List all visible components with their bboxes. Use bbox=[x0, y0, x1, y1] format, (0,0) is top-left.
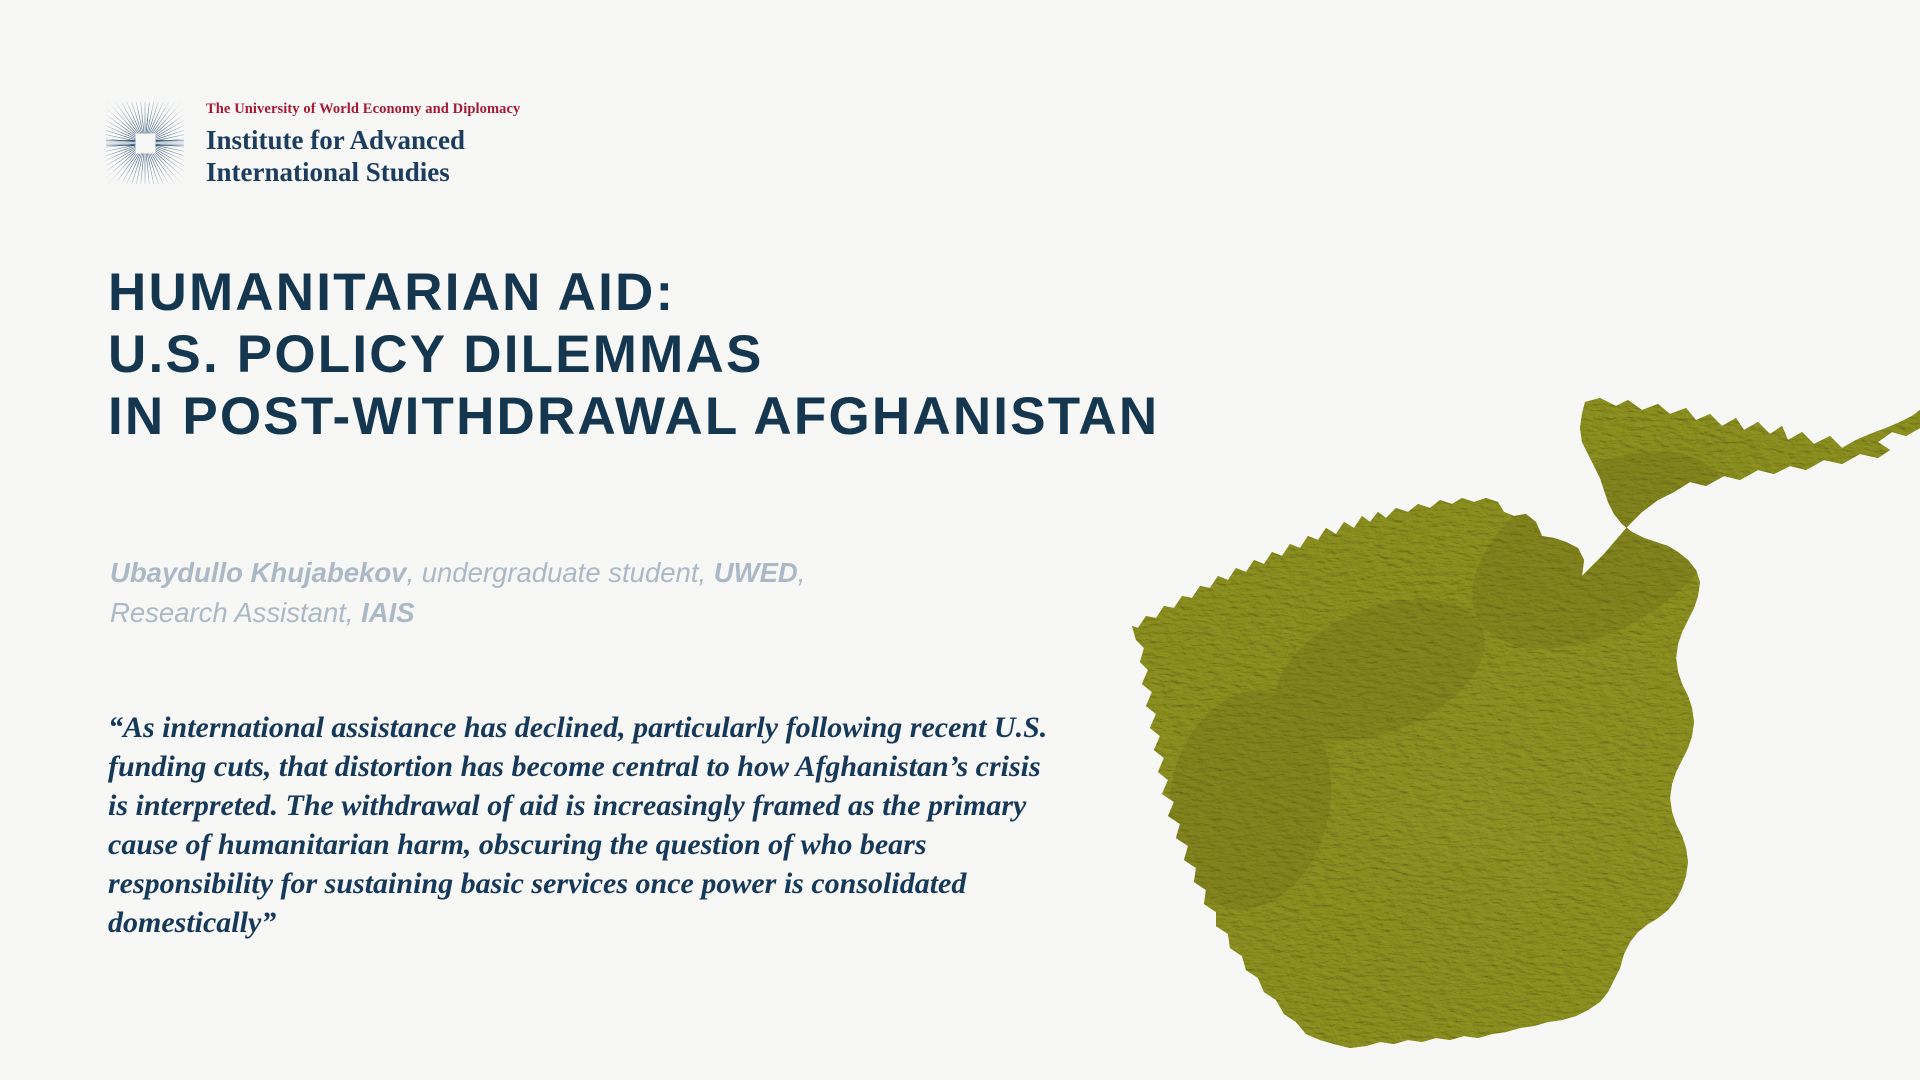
author-affiliation-1: UWED bbox=[714, 557, 798, 588]
logo-text-block: The University of World Economy and Dipl… bbox=[206, 98, 520, 189]
author-role-2: , bbox=[798, 557, 806, 588]
presentation-slide: The University of World Economy and Dipl… bbox=[0, 0, 1920, 1080]
logo-university-line: The University of World Economy and Dipl… bbox=[206, 102, 520, 118]
author-affiliation-2: IAIS bbox=[361, 597, 414, 628]
afghanistan-map-illustration bbox=[1130, 370, 1920, 1050]
logo-institute-line-1: Institute for Advanced bbox=[206, 125, 520, 157]
logo-institute-name: Institute for Advanced International Stu… bbox=[206, 125, 520, 189]
author-byline: Ubaydullo Khujabekov, undergraduate stud… bbox=[110, 553, 1110, 632]
afghanistan-terrain-shape bbox=[1130, 370, 1920, 1050]
title-line-1: HUMANITARIAN AID: bbox=[108, 262, 1528, 324]
pull-quote: “As international assistance has decline… bbox=[108, 708, 1068, 942]
author-role-1: , undergraduate student, bbox=[406, 557, 713, 588]
author-name: Ubaydullo Khujabekov bbox=[110, 557, 406, 588]
radial-burst-square-icon bbox=[106, 102, 184, 184]
author-role-3: Research Assistant, bbox=[110, 597, 361, 628]
logo-institute-line-2: International Studies bbox=[206, 157, 520, 189]
institution-logo-lockup: The University of World Economy and Dipl… bbox=[106, 98, 520, 189]
